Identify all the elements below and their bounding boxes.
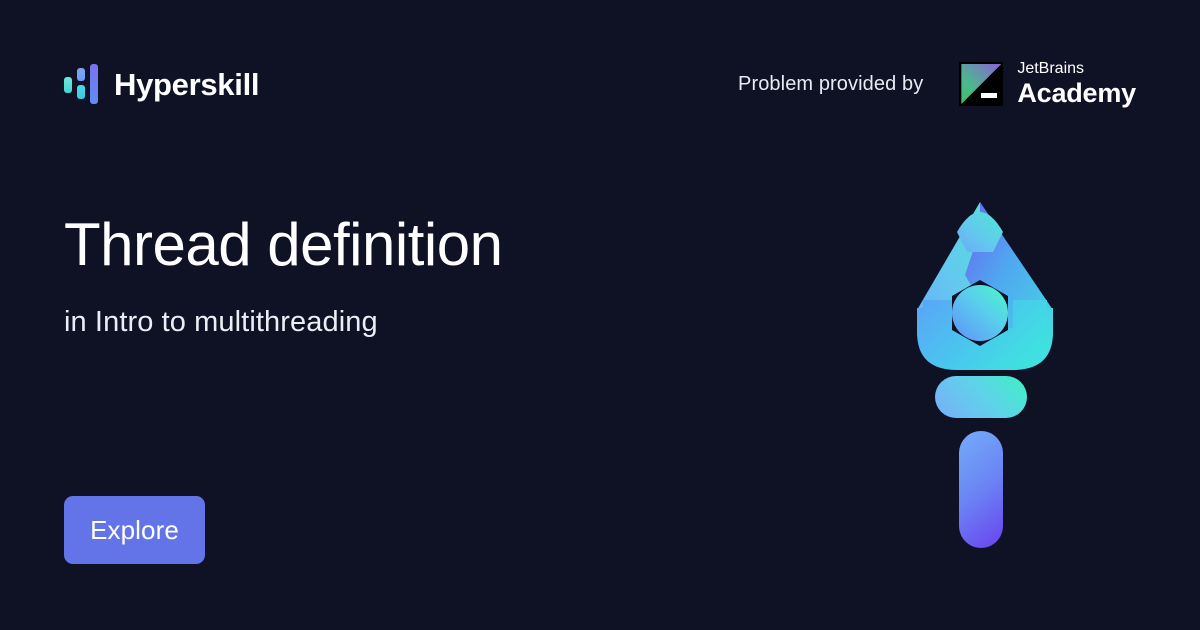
jetbrains-square-icon bbox=[959, 62, 1003, 106]
jetbrains-dash bbox=[981, 93, 997, 98]
brand-name: Hyperskill bbox=[114, 69, 259, 100]
jetbrains-gradient-triangle bbox=[961, 64, 1001, 104]
academy-label: Academy bbox=[1017, 80, 1136, 107]
header: Hyperskill Problem provided by JetBrains… bbox=[64, 52, 1136, 116]
jetbrains-label: JetBrains bbox=[1017, 61, 1136, 77]
torch-handle-pill bbox=[959, 431, 1003, 548]
hyperskill-bars-icon bbox=[64, 64, 98, 104]
torch-gem-circle bbox=[952, 285, 1008, 341]
hyperskill-topic-torch-icon bbox=[895, 180, 1075, 560]
jetbrains-wordmark: JetBrains Academy bbox=[1017, 61, 1136, 107]
jetbrains-academy-logo[interactable]: JetBrains Academy bbox=[959, 61, 1136, 107]
torch-collar-pill bbox=[935, 376, 1027, 418]
logo-bar-left bbox=[64, 77, 72, 93]
torch-head bbox=[917, 202, 1053, 370]
provider-block: Problem provided by JetBrains Academy bbox=[738, 61, 1136, 107]
logo-bar-mid-bottom bbox=[77, 85, 85, 99]
page-subtitle: in Intro to multithreading bbox=[64, 304, 378, 342]
explore-button[interactable]: Explore bbox=[64, 496, 205, 564]
hyperskill-brand[interactable]: Hyperskill bbox=[64, 64, 259, 104]
logo-bar-mid-top bbox=[77, 68, 85, 81]
topic-share-card: Hyperskill Problem provided by JetBrains… bbox=[0, 0, 1200, 630]
page-title: Thread definition bbox=[64, 210, 502, 279]
logo-bar-right bbox=[90, 64, 98, 104]
provider-label: Problem provided by bbox=[738, 73, 923, 96]
